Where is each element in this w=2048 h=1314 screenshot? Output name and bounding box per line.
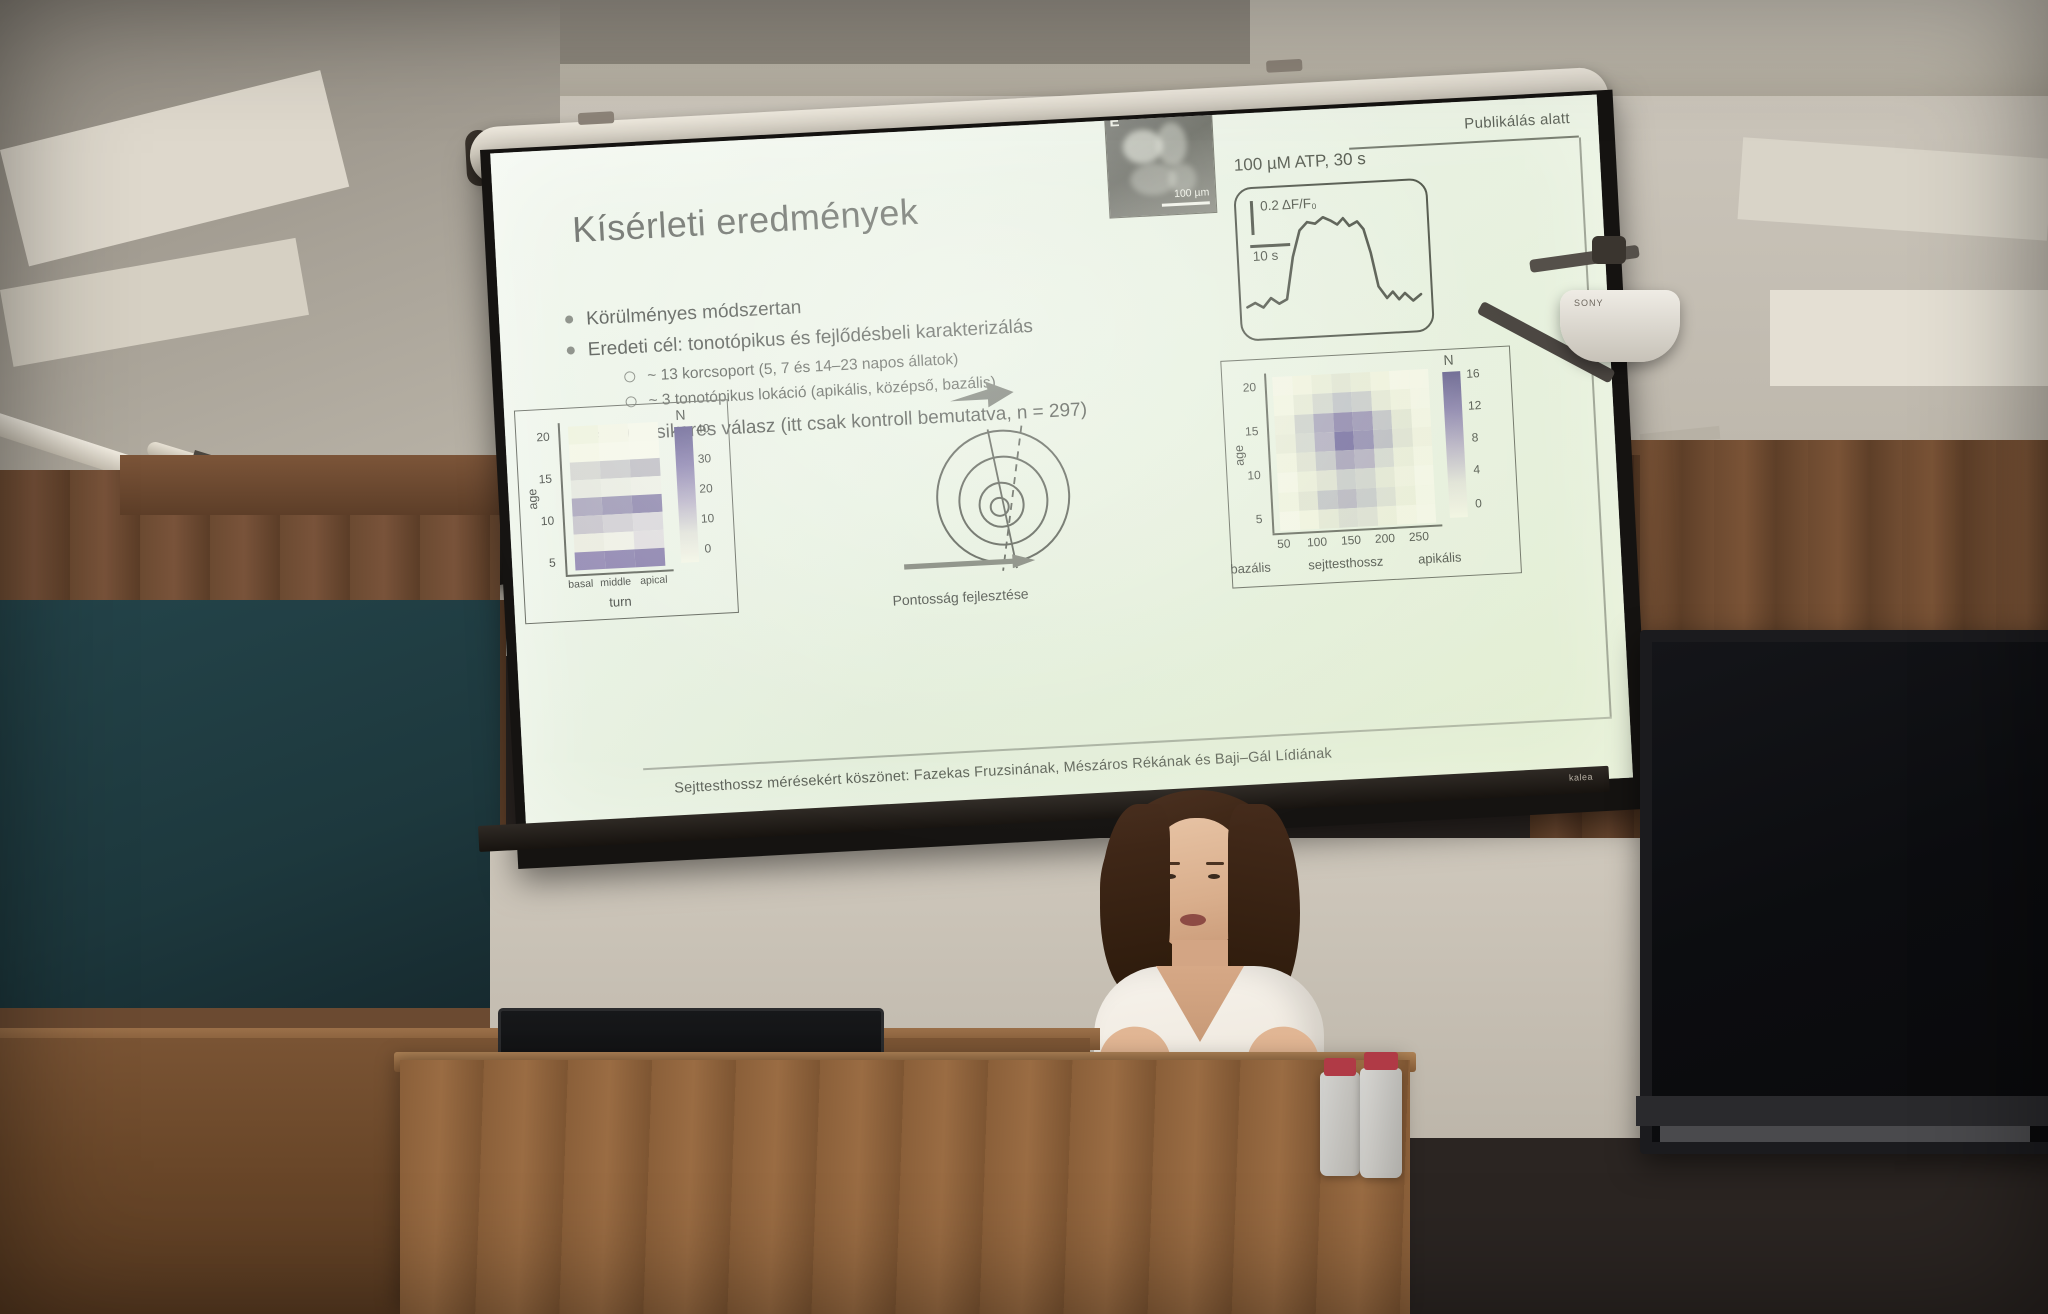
projector-head: SONY [1560,290,1680,362]
left-chart-xtick: apical [640,574,668,587]
blackboard [0,600,506,1020]
lectern [400,1060,1410,1314]
right-chart-xtick: 200 [1375,531,1396,546]
wood-trim-left [120,455,550,515]
bullet-dot-icon [567,346,575,354]
left-chart-ytick: 15 [538,472,552,487]
left-chart-yaxis [558,423,568,575]
presentation-slide: Publikálás alatt Kísérleti eredmények É … [490,95,1633,837]
left-heatmap-grid [568,422,666,571]
projector-brand-label: SONY [1574,298,1604,308]
left-colorbar-tick: 40 [696,421,710,436]
presenter-brow-right [1206,862,1224,865]
right-colorbar-title: N [1443,352,1454,369]
water-bottle-left [1320,1072,1360,1176]
micrograph-image: É 100 µm [1104,107,1217,219]
right-chart-xtick: 50 [1277,536,1291,551]
right-heatmap-panel: age 20 15 10 5 50 100 [1220,345,1522,588]
cochlea-spiral-diagram [908,384,1098,583]
left-colorbar-title: N [675,406,686,423]
right-chart-left-annotation: bazális [1230,560,1271,577]
left-chart-ytick: 5 [549,556,556,570]
micrograph-scale-label: 100 µm [1174,186,1210,200]
left-chart-xtick: middle [600,576,632,590]
right-chart-ytick: 20 [1242,380,1256,395]
projector-lens [1592,236,1626,264]
left-chart-xlabel: turn [609,594,632,610]
left-chart-ytick: 20 [536,430,550,445]
tv-screen [1652,642,2048,1142]
tv-stand-rail [1636,1096,2048,1126]
lecture-hall-photo: Publikálás alatt Kísérleti eredmények É … [0,0,2048,1314]
right-chart-ytick: 15 [1245,424,1259,439]
left-colorbar-tick: 10 [701,511,715,526]
right-chart-ylabel: age [1232,445,1247,467]
header-rule [1349,136,1579,150]
left-chart-xtick: basal [568,578,594,591]
micrograph-scale-bar [1162,201,1210,207]
presenter-eye-right [1208,874,1220,879]
right-colorbar-tick: 16 [1466,366,1480,381]
rotate-arrow-icon [947,378,1019,416]
left-chart-ylabel: age [525,488,540,510]
wall-tv [1640,630,2048,1154]
right-chart-xtick: 100 [1307,534,1328,549]
right-chart-right-annotation: apikális [1418,549,1462,566]
right-chart-xlabel: sejttesthossz [1308,554,1384,573]
roller-mount-left [578,111,615,125]
tv-stand-base [1660,1126,2030,1142]
water-bottle-right [1360,1068,1402,1178]
left-heatmap-panel: age 20 15 10 5 basal middl [514,399,739,624]
right-colorbar [1442,371,1468,518]
right-colorbar-tick: 12 [1468,398,1482,413]
roller-mount-right [1266,59,1303,73]
right-colorbar-tick: 8 [1471,430,1478,444]
publication-status-label: Publikálás alatt [1464,110,1570,133]
bottle-cap-right [1364,1052,1398,1070]
bullet-dot-icon [565,315,573,323]
chalk-rail [0,1008,510,1030]
screen-brand-label: kalea [1569,772,1594,783]
right-colorbar-tick: 4 [1473,462,1480,476]
projection-screen: Publikálás alatt Kísérleti eredmények É … [480,90,1651,869]
right-chart-xtick: 150 [1341,533,1362,548]
right-chart-xtick: 250 [1409,529,1430,544]
right-chart-ytick: 10 [1247,468,1261,483]
atp-panel-title: 100 µM ATP, 30 s [1233,149,1366,176]
vertical-rule [1579,137,1612,716]
wall-panel-c [1770,290,2048,386]
sub-bullet-circle-icon [624,371,636,383]
right-colorbar-tick: 0 [1475,496,1482,510]
left-chart-ytick: 10 [540,514,554,529]
bottle-cap-left [1324,1058,1356,1076]
micrograph-corner-label: É [1109,113,1120,131]
left-colorbar-tick: 30 [697,451,711,466]
left-colorbar-tick: 0 [704,541,711,555]
left-colorbar [674,426,699,563]
right-chart-ytick: 5 [1255,512,1262,526]
left-colorbar-tick: 20 [699,481,713,496]
middle-caption: Pontosság fejlesztése [892,585,1029,608]
presenter-mouth [1180,914,1206,926]
right-heatmap-grid [1272,369,1436,531]
slide-title: Kísérleti eredmények [571,191,919,251]
